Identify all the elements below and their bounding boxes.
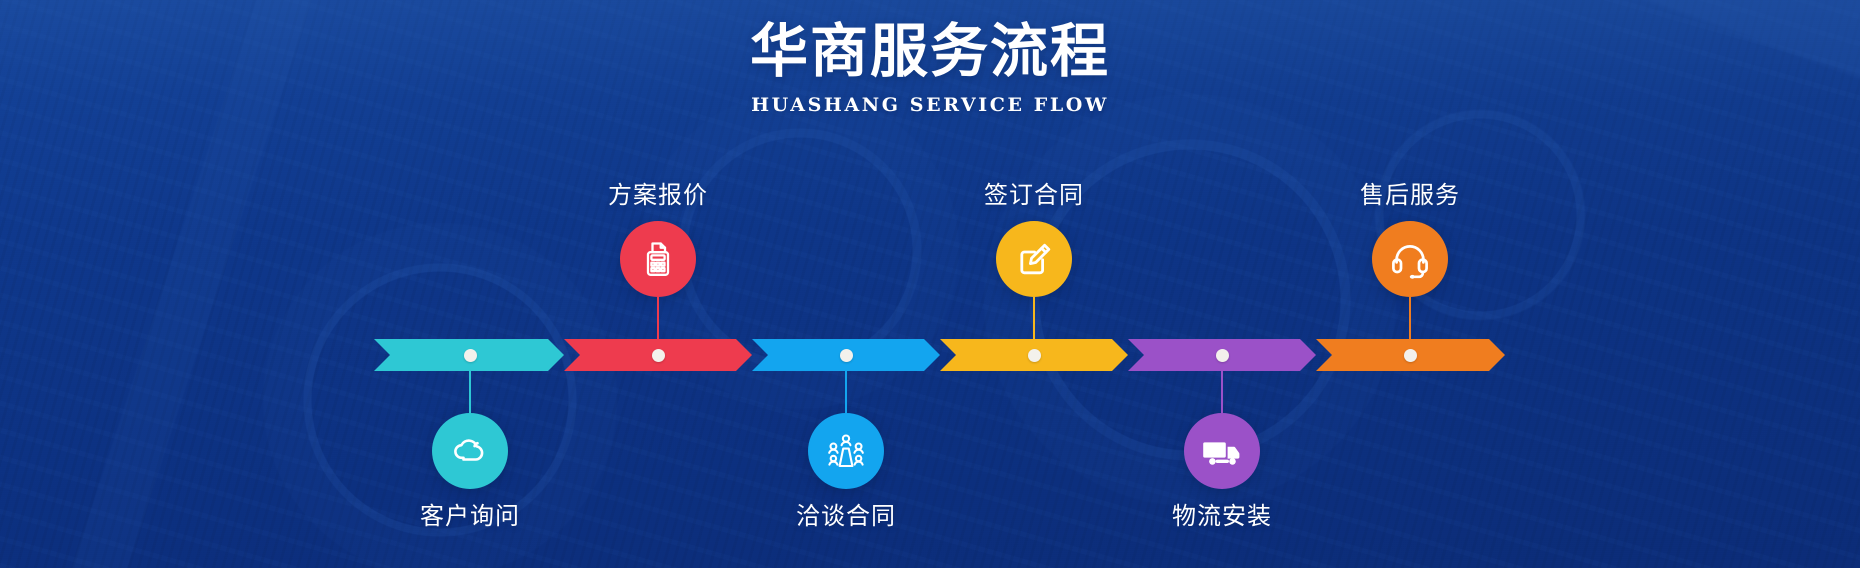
headset-support-icon — [1389, 239, 1431, 279]
pos-terminal-receipt-icon — [639, 239, 677, 279]
process-step-bubble[interactable] — [432, 413, 508, 489]
process-step-2[interactable]: 方案报价 — [558, 181, 758, 297]
process-step-label: 售后服务 — [1310, 181, 1510, 210]
process-step-label: 物流安装 — [1122, 502, 1322, 531]
process-step-label: 客户询问 — [370, 502, 570, 531]
process-step-5[interactable]: 物流安装 — [1122, 413, 1322, 531]
process-step-bubble[interactable] — [1184, 413, 1260, 489]
service-flow-banner: 华商服务流程 HUASHANG SERVICE FLOW 客户询问方案报价 — [0, 0, 1860, 568]
pen-sign-document-icon — [1014, 239, 1054, 279]
process-step-marker-dot[interactable] — [652, 349, 665, 362]
process-step-1[interactable]: 客户询问 — [370, 413, 570, 531]
cloud-chat-icon — [450, 431, 490, 471]
process-step-marker-dot[interactable] — [1404, 349, 1417, 362]
process-step-bubble[interactable] — [808, 413, 884, 489]
process-step-3[interactable]: 洽谈合同 — [746, 413, 946, 531]
process-step-bubble[interactable] — [996, 221, 1072, 297]
process-step-bubble[interactable] — [1372, 221, 1448, 297]
process-step-marker-dot[interactable] — [840, 349, 853, 362]
delivery-truck-icon — [1200, 431, 1244, 471]
process-step-label: 方案报价 — [558, 181, 758, 210]
meeting-table-people-icon — [825, 431, 867, 471]
process-step-4[interactable]: 签订合同 — [934, 181, 1134, 297]
process-step-bubble[interactable] — [620, 221, 696, 297]
process-step-connector-line — [1409, 297, 1411, 339]
process-step-connector-line — [657, 297, 659, 339]
process-step-label: 洽谈合同 — [746, 502, 946, 531]
process-step-connector-line — [845, 371, 847, 413]
process-step-label: 签订合同 — [934, 181, 1134, 210]
process-step-marker-dot[interactable] — [1216, 349, 1229, 362]
process-step-list: 客户询问方案报价 洽谈合同签订合同 — [0, 0, 1860, 568]
process-step-connector-line — [1033, 297, 1035, 339]
process-step-6[interactable]: 售后服务 — [1310, 181, 1510, 297]
process-step-marker-dot[interactable] — [1028, 349, 1041, 362]
process-step-connector-line — [1221, 371, 1223, 413]
process-step-connector-line — [469, 371, 471, 413]
process-step-marker-dot[interactable] — [464, 349, 477, 362]
